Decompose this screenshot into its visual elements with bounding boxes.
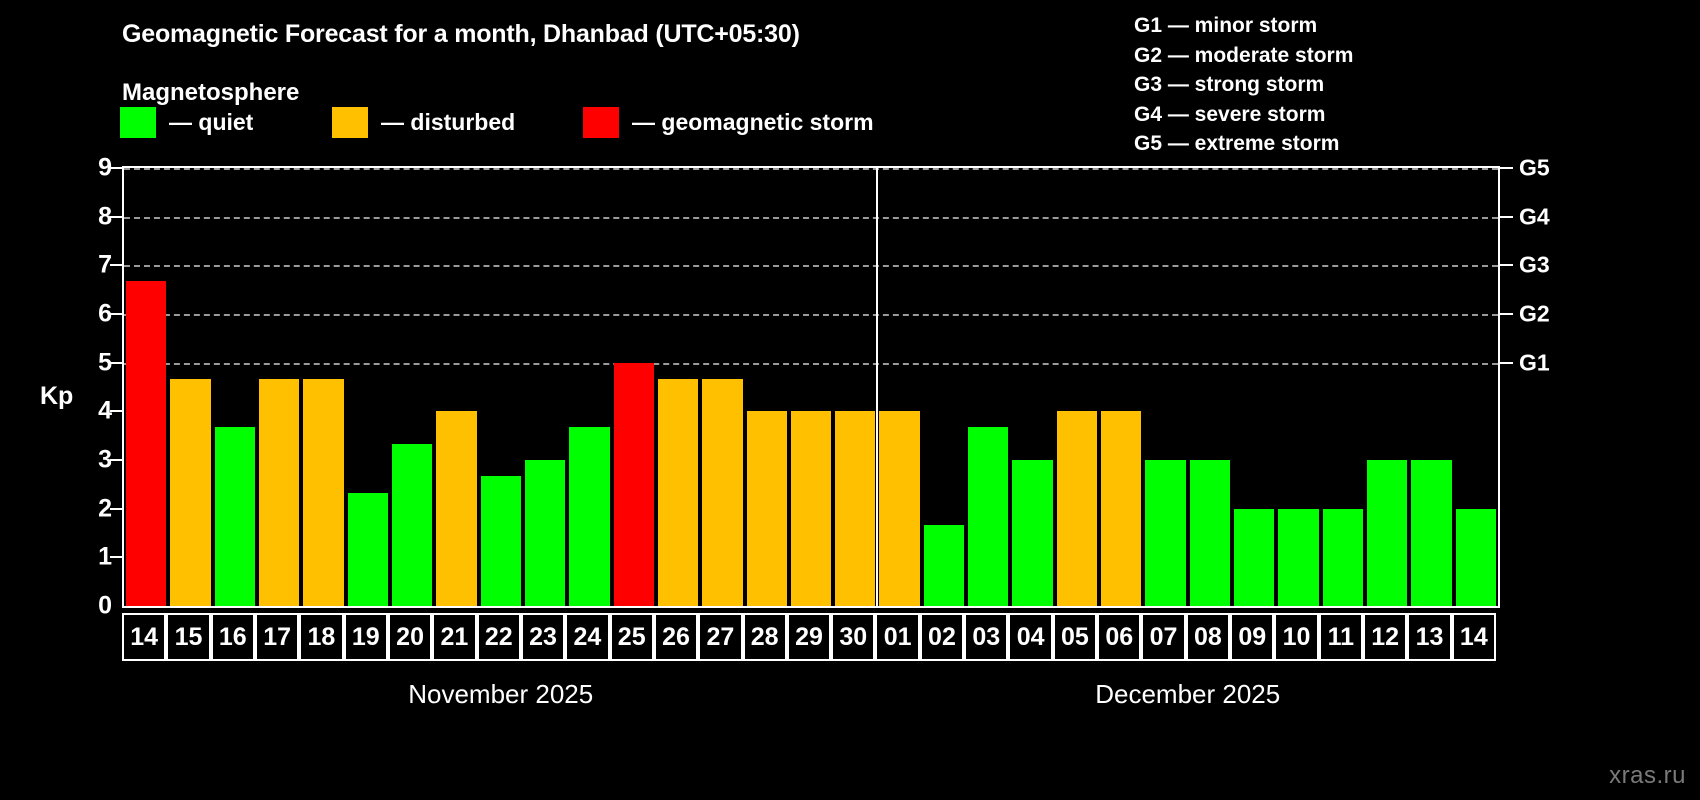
bar-21-disturbed[interactable] [436, 411, 476, 606]
date-cell-23[interactable]: 07 [1141, 613, 1185, 661]
bar-15-disturbed[interactable] [170, 379, 210, 606]
legend-label-storm: — geomagnetic storm [632, 109, 874, 136]
bar-13-quiet[interactable] [1411, 460, 1451, 606]
y-tick-mark-5 [110, 362, 122, 364]
date-cell-3[interactable]: 17 [255, 613, 299, 661]
y-tick-label-9: 9 [82, 154, 112, 183]
legend-item-disturbed: — disturbed [332, 107, 515, 138]
date-cell-14[interactable]: 28 [743, 613, 787, 661]
bar-04-quiet[interactable] [1012, 460, 1052, 606]
y-tick-mark-2 [110, 508, 122, 510]
bar-23-quiet[interactable] [525, 460, 565, 606]
g-tick-mark-G1 [1500, 362, 1513, 364]
date-cell-24[interactable]: 08 [1186, 613, 1230, 661]
date-cell-8[interactable]: 22 [477, 613, 521, 661]
legend-item-storm: — geomagnetic storm [583, 107, 874, 138]
date-cell-26[interactable]: 10 [1274, 613, 1318, 661]
y-axis-title: Kp [40, 382, 73, 411]
legend-swatch-quiet [120, 107, 156, 138]
g-tick-label-G5: G5 [1519, 155, 1550, 182]
bar-07-quiet[interactable] [1145, 460, 1185, 606]
y-tick-label-7: 7 [82, 251, 112, 280]
legend-label-disturbed: — disturbed [381, 109, 515, 136]
date-cell-27[interactable]: 11 [1319, 613, 1363, 661]
g-tick-mark-G3 [1500, 264, 1513, 266]
g-scale-legend: G1 — minor stormG2 — moderate stormG3 — … [1134, 11, 1353, 159]
date-cell-19[interactable]: 03 [964, 613, 1008, 661]
g-tick-label-G1: G1 [1519, 349, 1550, 376]
y-tick-mark-9 [110, 167, 122, 169]
legend-swatch-disturbed [332, 107, 368, 138]
y-tick-label-0: 0 [82, 592, 112, 621]
date-cell-10[interactable]: 24 [565, 613, 609, 661]
bar-11-quiet[interactable] [1323, 509, 1363, 606]
g-tick-label-G2: G2 [1519, 301, 1550, 328]
y-tick-mark-6 [110, 313, 122, 315]
date-cell-11[interactable]: 25 [610, 613, 654, 661]
bar-17-disturbed[interactable] [259, 379, 299, 606]
bar-10-quiet[interactable] [1278, 509, 1318, 606]
date-cell-22[interactable]: 06 [1097, 613, 1141, 661]
bar-03-quiet[interactable] [968, 427, 1008, 606]
bar-14-storm[interactable] [126, 281, 166, 606]
month-caption-0: November 2025 [408, 679, 593, 710]
month-caption-1: December 2025 [1095, 679, 1280, 710]
g-legend-row-3: G3 — strong storm [1134, 70, 1353, 100]
y-tick-mark-1 [110, 556, 122, 558]
y-tick-mark-3 [110, 459, 122, 461]
bar-14-quiet[interactable] [1456, 509, 1496, 606]
bars-layer [124, 168, 1498, 606]
y-tick-label-5: 5 [82, 348, 112, 377]
bar-08-quiet[interactable] [1190, 460, 1230, 606]
date-cell-28[interactable]: 12 [1363, 613, 1407, 661]
date-cell-9[interactable]: 23 [521, 613, 565, 661]
watermark: xras.ru [1609, 762, 1686, 790]
y-tick-label-8: 8 [82, 202, 112, 231]
date-cell-13[interactable]: 27 [698, 613, 742, 661]
y-tick-label-3: 3 [82, 446, 112, 475]
bar-24-quiet[interactable] [569, 427, 609, 606]
bar-29-disturbed[interactable] [791, 411, 831, 606]
g-tick-mark-G5 [1500, 167, 1513, 169]
date-cell-20[interactable]: 04 [1008, 613, 1052, 661]
bar-30-disturbed[interactable] [835, 411, 875, 606]
bar-26-disturbed[interactable] [658, 379, 698, 606]
date-cell-29[interactable]: 13 [1407, 613, 1451, 661]
date-cell-21[interactable]: 05 [1053, 613, 1097, 661]
legend-label-quiet: — quiet [169, 109, 253, 136]
bar-09-quiet[interactable] [1234, 509, 1274, 606]
legend-swatch-storm [583, 107, 619, 138]
y-tick-label-4: 4 [82, 397, 112, 426]
bar-19-quiet[interactable] [348, 493, 388, 606]
g-tick-label-G3: G3 [1519, 252, 1550, 279]
g-tick-mark-G4 [1500, 216, 1513, 218]
date-cell-2[interactable]: 16 [211, 613, 255, 661]
date-cell-18[interactable]: 02 [920, 613, 964, 661]
bar-22-quiet[interactable] [481, 476, 521, 606]
bar-18-disturbed[interactable] [303, 379, 343, 606]
y-tick-label-1: 1 [82, 543, 112, 572]
bar-20-quiet[interactable] [392, 444, 432, 606]
y-tick-mark-7 [110, 264, 122, 266]
date-cell-15[interactable]: 29 [787, 613, 831, 661]
g-legend-row-5: G5 — extreme storm [1134, 129, 1353, 159]
g-legend-row-1: G1 — minor storm [1134, 11, 1353, 41]
g-legend-row-4: G4 — severe storm [1134, 100, 1353, 130]
date-cell-12[interactable]: 26 [654, 613, 698, 661]
magnetosphere-label: Magnetosphere [122, 79, 299, 107]
date-cell-1[interactable]: 15 [166, 613, 210, 661]
bar-12-quiet[interactable] [1367, 460, 1407, 606]
date-cell-0[interactable]: 14 [122, 613, 166, 661]
y-tick-label-6: 6 [82, 300, 112, 329]
bar-25-storm[interactable] [614, 363, 654, 606]
bar-05-disturbed[interactable] [1057, 411, 1097, 606]
legend-item-quiet: — quiet [120, 107, 253, 138]
y-tick-mark-8 [110, 216, 122, 218]
date-cell-6[interactable]: 20 [388, 613, 432, 661]
g-legend-row-2: G2 — moderate storm [1134, 41, 1353, 71]
plot-area [122, 166, 1500, 608]
month-divider [876, 168, 878, 606]
bar-28-disturbed[interactable] [747, 411, 787, 606]
date-cell-30[interactable]: 14 [1452, 613, 1496, 661]
bar-02-quiet[interactable] [924, 525, 964, 606]
date-axis: 1415161718192021222324252627282930010203… [122, 613, 1500, 661]
g-tick-mark-G2 [1500, 313, 1513, 315]
g-tick-label-G4: G4 [1519, 203, 1550, 230]
bar-06-disturbed[interactable] [1101, 411, 1141, 606]
date-cell-4[interactable]: 18 [299, 613, 343, 661]
date-cell-5[interactable]: 19 [344, 613, 388, 661]
y-tick-label-2: 2 [82, 494, 112, 523]
page-title: Geomagnetic Forecast for a month, Dhanba… [122, 20, 800, 49]
bar-16-quiet[interactable] [215, 427, 255, 606]
bar-27-disturbed[interactable] [702, 379, 742, 606]
bar-01-disturbed[interactable] [879, 411, 919, 606]
y-tick-mark-4 [110, 410, 122, 412]
date-cell-17[interactable]: 01 [875, 613, 919, 661]
date-cell-16[interactable]: 30 [831, 613, 875, 661]
date-cell-7[interactable]: 21 [432, 613, 476, 661]
date-cell-25[interactable]: 09 [1230, 613, 1274, 661]
